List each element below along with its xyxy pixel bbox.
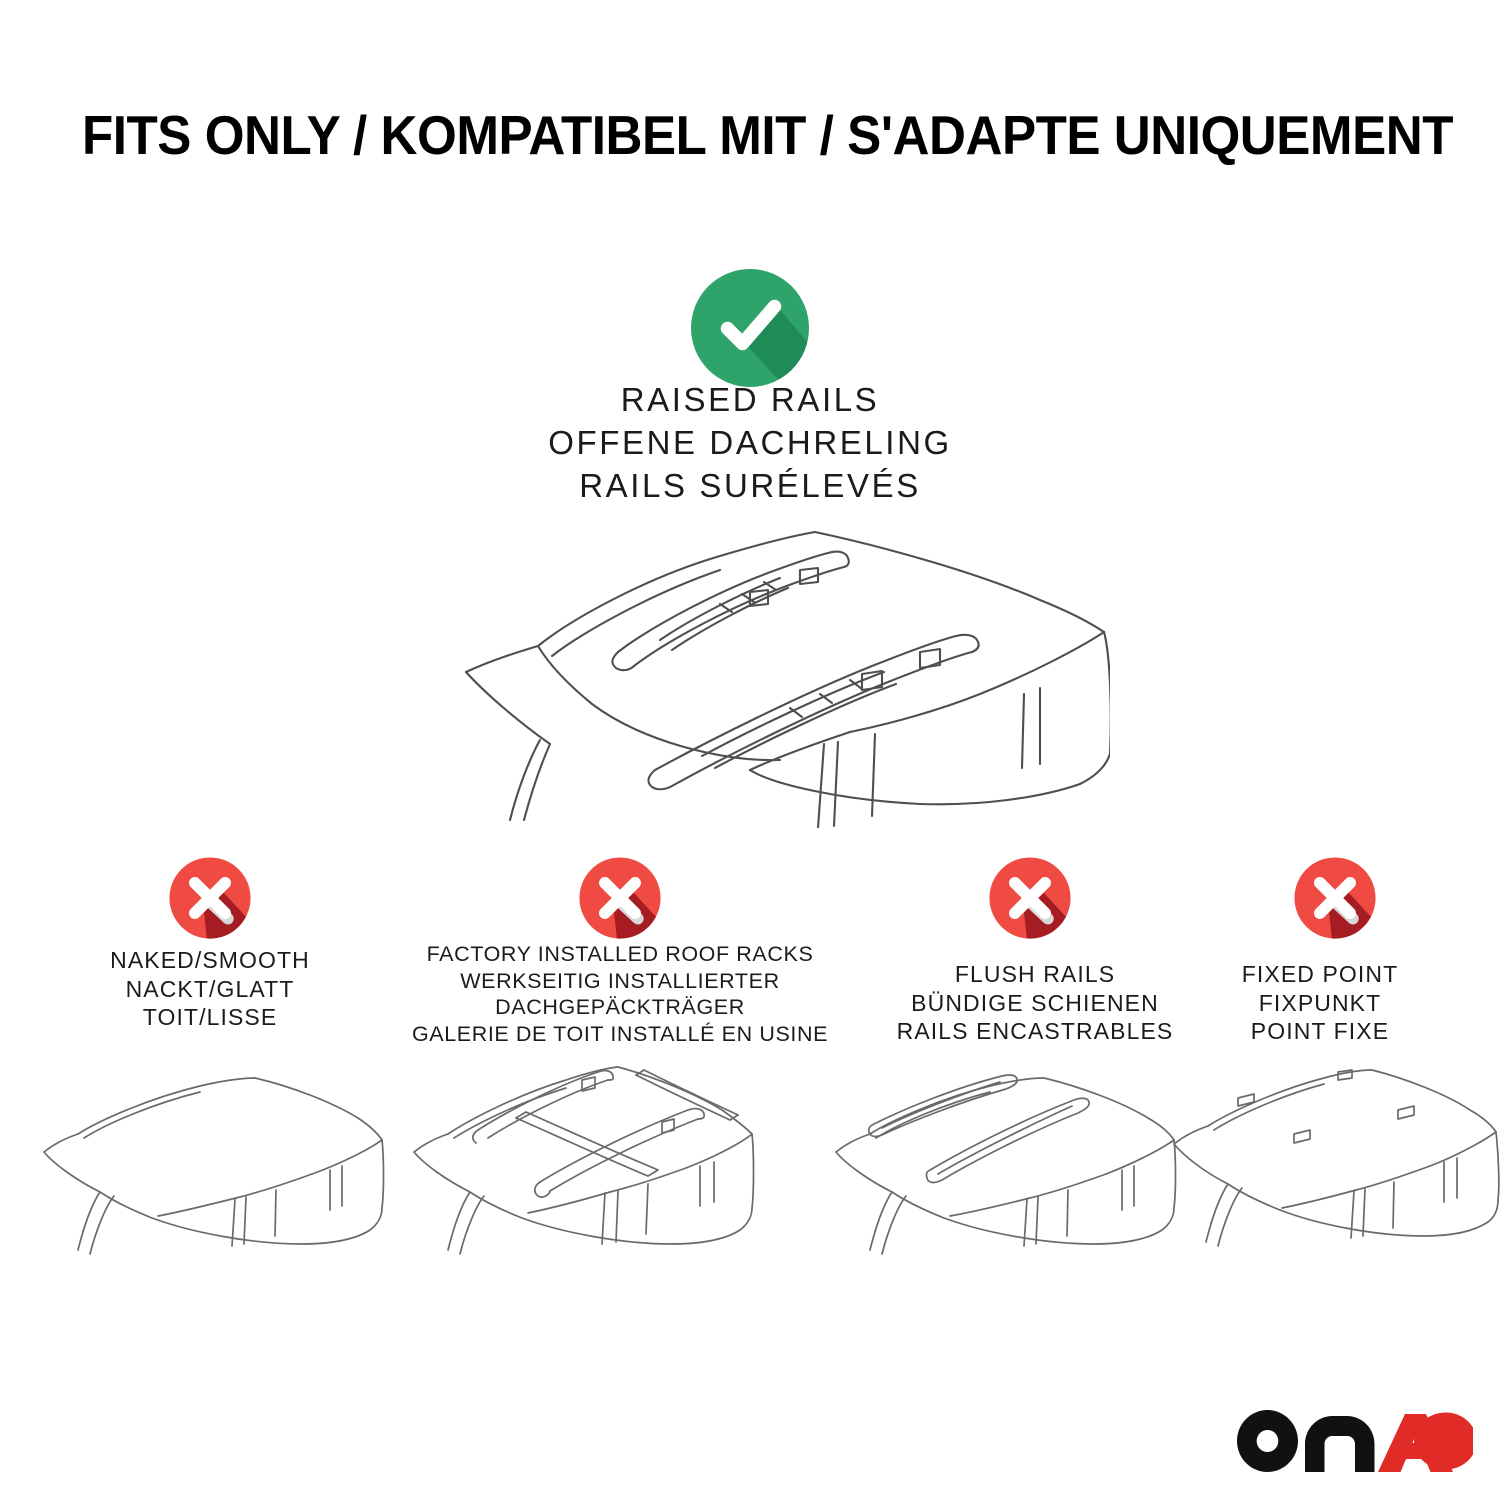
caption-line: DACHGEPÄCKTRÄGER [400, 994, 840, 1021]
caption-line: RAILS SURÉLEVÉS [250, 464, 1250, 507]
car-roof-factory-racks-illustration [400, 1058, 760, 1293]
fitment-infographic: FITS ONLY / KOMPATIBEL MIT / S'ADAPTE UN… [0, 0, 1500, 1500]
fixed-point-caption: FIXED POINT FIXPUNKT POINT FIXE [1160, 960, 1480, 1046]
caption-line: POINT FIXE [1160, 1017, 1480, 1046]
car-roof-raised-rails-illustration [420, 508, 1110, 828]
cross-circle-icon [986, 854, 1074, 942]
check-circle-icon [686, 264, 814, 392]
car-roof-naked-smooth-illustration [40, 1068, 385, 1293]
caption-line: GALERIE DE TOIT INSTALLÉ EN USINE [400, 1021, 840, 1048]
cross-circle-icon [166, 854, 254, 942]
caption-line: WERKSEITIG INSTALLIERTER [400, 968, 840, 995]
car-roof-fixed-point-illustration [1170, 1068, 1500, 1293]
cross-circle-icon [576, 854, 664, 942]
omac-logo [1237, 1410, 1473, 1472]
cross-circle-icon [1291, 854, 1379, 942]
caption-line: TOIT/LISSE [20, 1003, 400, 1032]
car-roof-flush-rails-illustration [830, 1068, 1180, 1293]
caption-line: NACKT/GLATT [20, 975, 400, 1004]
caption-line: FIXED POINT [1160, 960, 1480, 989]
caption-line: OFFENE DACHRELING [250, 421, 1250, 464]
caption-line: RAISED RAILS [250, 378, 1250, 421]
naked-smooth-caption: NAKED/SMOOTH NACKT/GLATT TOIT/LISSE [20, 946, 400, 1032]
page-title: FITS ONLY / KOMPATIBEL MIT / S'ADAPTE UN… [82, 104, 1328, 166]
factory-racks-caption: FACTORY INSTALLED ROOF RACKS WERKSEITIG … [400, 941, 840, 1047]
compatible-caption: RAISED RAILS OFFENE DACHRELING RAILS SUR… [250, 378, 1250, 507]
caption-line: FACTORY INSTALLED ROOF RACKS [400, 941, 840, 968]
caption-line: NAKED/SMOOTH [20, 946, 400, 975]
caption-line: FIXPUNKT [1160, 989, 1480, 1018]
